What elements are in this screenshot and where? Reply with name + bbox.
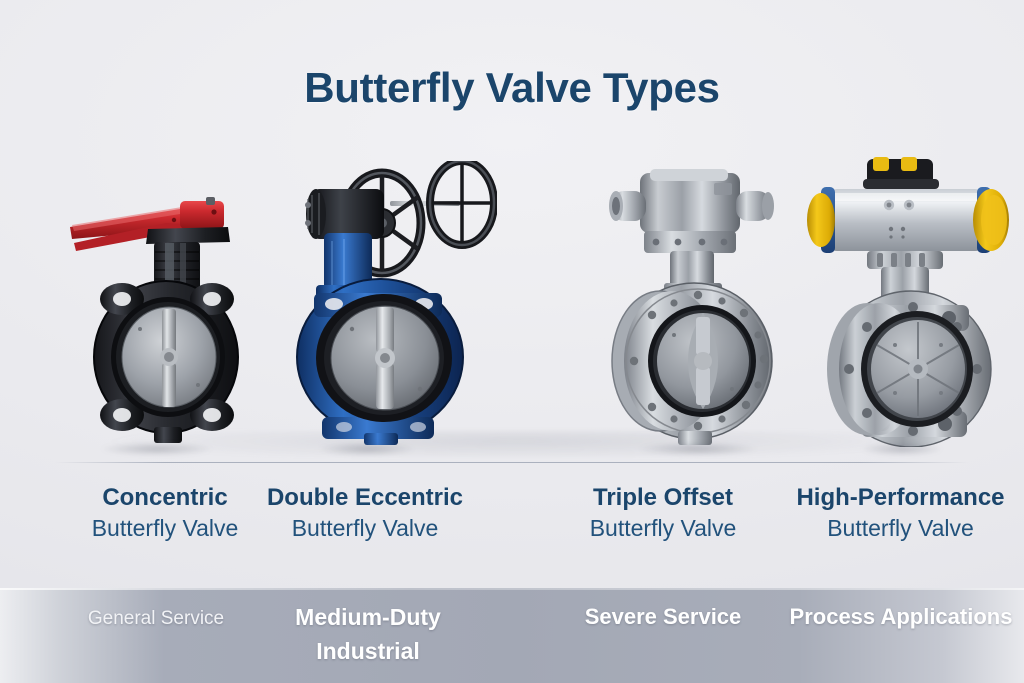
valve-label-subtitle: Butterfly Valve <box>543 513 783 543</box>
valve-image-triple-offset <box>598 163 798 447</box>
valve-label-title: High-Performance <box>778 483 1023 513</box>
valve-shadow <box>75 439 238 459</box>
valve-label-title: Triple Offset <box>543 483 783 513</box>
application-process-applications: Process Applications <box>781 602 1021 632</box>
section-divider <box>55 462 969 463</box>
application-general-service: General Service <box>56 606 256 632</box>
valve-label-subtitle: Butterfly Valve <box>245 513 485 543</box>
valve-image-concentric <box>62 179 252 447</box>
page-title: Butterfly Valve Types <box>0 64 1024 112</box>
valve-image-double-eccentric <box>272 161 497 447</box>
high-performance-valve-illustration <box>805 157 1020 447</box>
product-stage <box>0 150 1024 465</box>
valve-image-high-performance <box>805 157 1020 447</box>
valve-label-title: Double Eccentric <box>245 483 485 513</box>
valve-label-double-eccentric: Double Eccentric Butterfly Valve <box>245 483 485 543</box>
infographic-root: Butterfly Valve Types <box>0 0 1024 683</box>
valve-label-triple-offset: Triple Offset Butterfly Valve <box>543 483 783 543</box>
valve-label-high-performance: High-Performance Butterfly Valve <box>778 483 1023 543</box>
valve-label-subtitle: Butterfly Valve <box>778 513 1023 543</box>
application-bar: General Service Medium-Duty Industrial S… <box>0 588 1024 683</box>
double-eccentric-valve-illustration <box>272 161 497 447</box>
valve-shadow <box>612 439 784 459</box>
application-severe-service: Severe Service <box>563 602 763 632</box>
concentric-valve-illustration <box>62 179 252 447</box>
valve-shadow <box>843 439 961 459</box>
valve-labels-row: Concentric Butterfly Valve Double Eccent… <box>0 483 1024 573</box>
handwheel <box>430 161 494 245</box>
triple-offset-valve-illustration <box>598 163 798 447</box>
application-medium-duty-industrial: Medium-Duty Industrial <box>270 600 466 668</box>
valve-shadow <box>297 439 437 459</box>
